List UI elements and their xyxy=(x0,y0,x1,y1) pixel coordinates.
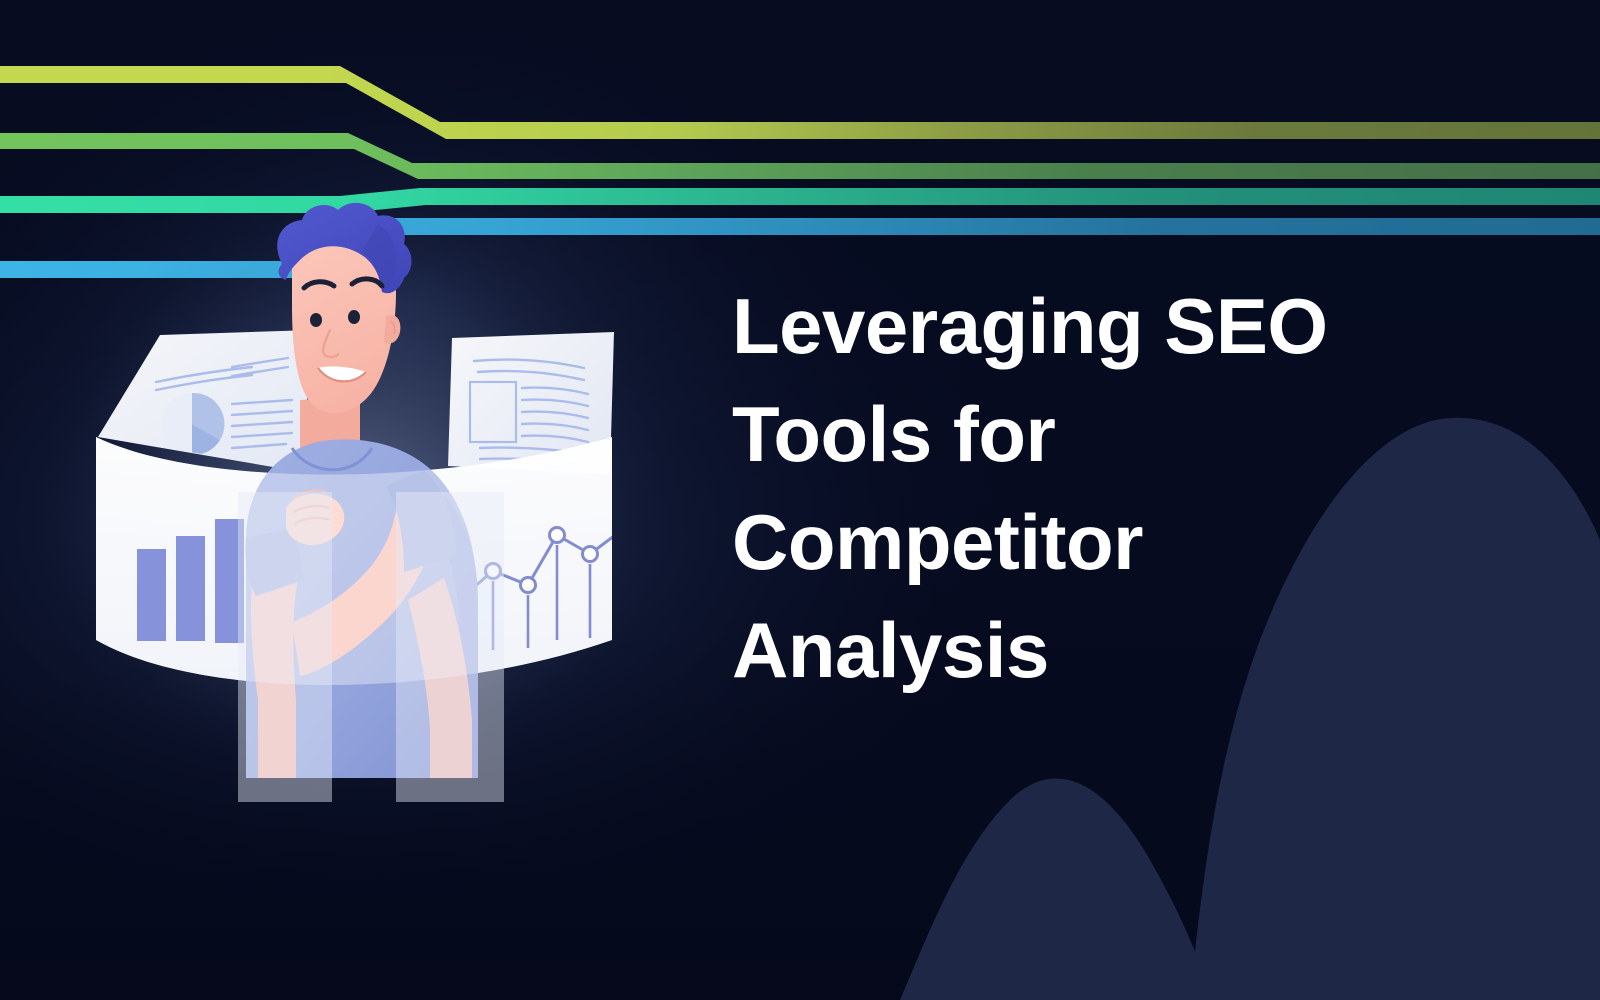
hero-banner: Leveraging SEO Tools for Competitor Anal… xyxy=(0,0,1600,1000)
title-line-2: Tools for xyxy=(732,380,1412,488)
title-line-4: Analysis xyxy=(732,596,1412,704)
page-title: Leveraging SEO Tools for Competitor Anal… xyxy=(732,272,1412,704)
title-line-1: Leveraging SEO xyxy=(732,272,1412,380)
title-line-3: Competitor xyxy=(732,488,1412,596)
